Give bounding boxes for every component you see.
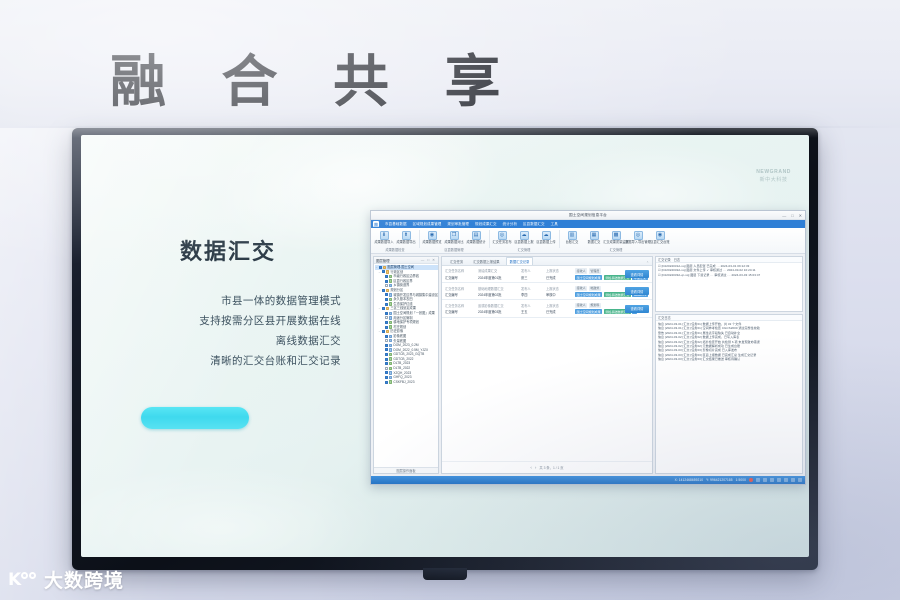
ribbon-group-name: 汇交管理: [518, 247, 531, 253]
field-label: 汇交任务名称: [445, 268, 475, 273]
upload-icon: ☁: [520, 231, 529, 240]
table-cell: 汇交任务名称汇交编号: [445, 286, 475, 298]
expand-toggle-icon[interactable]: −: [378, 306, 381, 311]
slide-corner-logo: NEWGRAND 新中大科技: [756, 169, 791, 183]
io-manage-icon: ◎: [634, 231, 643, 240]
layer-visibility-checkbox[interactable]: [385, 339, 388, 342]
layer-icon: [389, 348, 392, 351]
task-code: 2024年度第03批: [478, 309, 518, 314]
export-icon: ⬆: [402, 231, 411, 240]
table-cell: 基础地理数据汇交2024年度第02批: [478, 286, 518, 298]
publisher-value: 张三: [521, 275, 543, 280]
layer-visibility-checkbox[interactable]: [385, 353, 388, 356]
ribbon-button-compare[interactable]: ❐ 成果数据对比: [443, 228, 465, 245]
layer-icon: [389, 376, 392, 379]
view-detail-button[interactable]: 查看详情: [625, 287, 649, 295]
layer-visibility-checkbox[interactable]: [385, 348, 388, 351]
content-tabs: 汇交任务 汇交数据上报结果 数据汇交记录 ⌃: [442, 257, 652, 266]
wall-headline: 融 合 共 享: [110, 50, 519, 114]
layer-visibility-checkbox[interactable]: [382, 289, 385, 292]
table-cell: 上报状态已完成: [546, 268, 572, 280]
ribbon-group-0: ⬇ 成果数据导入 ⬆ 成果数据导出 成果数据检查: [371, 228, 419, 253]
ribbon-label: 成果数据统计: [466, 241, 485, 245]
publisher-value: 王五: [521, 309, 543, 314]
layer-icon: [389, 293, 392, 296]
ribbon-label: 区县数据上报: [514, 241, 533, 245]
ribbon-label: 数据汇交: [588, 241, 601, 245]
submission-detail-log: 汇交日志 信息 [2024-03-01] 汇交 [任务01] 数据上传开始，共 …: [655, 314, 803, 474]
window-title: 国土空间规划信息平台: [569, 213, 607, 218]
layer-icon: [389, 275, 392, 278]
ribbon-label: 成果数据导出: [396, 241, 415, 245]
layer-icon: [389, 316, 392, 319]
info-icon[interactable]: [791, 478, 795, 482]
expand-toggle-icon[interactable]: −: [378, 288, 381, 293]
publish-icon: ◎: [498, 231, 507, 240]
ribbon-button-preview[interactable]: ◉ 成果数据预览: [421, 228, 443, 245]
county-ledger-icon: ◉: [656, 231, 665, 240]
window-controls: — □ ✕: [782, 213, 802, 218]
table-row[interactable]: 汇交任务名称汇交编号遥感影像数据汇交2024年度第03批发布人王五上报状态已完成…: [442, 300, 652, 317]
tag-row: 接收人地政处: [575, 286, 622, 291]
layer-icon: [389, 357, 392, 360]
ribbon-label: 成果数据预览: [422, 241, 441, 245]
ribbon-label: 成果数据导入: [374, 241, 393, 245]
slide-logo-line2: 新中大科技: [756, 176, 791, 183]
tab-submission-task[interactable]: 汇交任务: [446, 257, 467, 265]
layer-icon: [389, 335, 392, 338]
layer-visibility-checkbox[interactable]: [385, 335, 388, 338]
app-logo-icon: 国: [373, 221, 379, 227]
preview-icon: ◉: [428, 231, 437, 240]
layer-visibility-checkbox[interactable]: [385, 316, 388, 319]
publisher-value: 李四: [521, 292, 543, 297]
layer-icon: [389, 279, 392, 282]
layer-visibility-checkbox[interactable]: [385, 367, 388, 370]
folder-icon: [386, 289, 389, 292]
tag-group: 接收人地政处国土空间规划成果测绘基础数据汇交season-1: [575, 286, 622, 298]
expand-toggle-icon[interactable]: −: [378, 329, 381, 334]
slide-bullet-3: 清晰的汇交台账和汇交记录: [115, 351, 341, 371]
menu-item-5[interactable]: 区县数据汇交: [523, 222, 545, 227]
log-column: 汇交记录 日志 ☑ [DJ2024031A-xq] 图层 人员配置 已完成 ··…: [655, 256, 803, 474]
status-label: 上报状态: [546, 268, 572, 273]
tree-panel-footer: 图层操作面板: [374, 467, 438, 473]
layer-visibility-checkbox[interactable]: [385, 358, 388, 361]
table-cell: 发布人张三: [521, 268, 543, 280]
menu-item-1[interactable]: 区域规划成果管理: [413, 222, 442, 227]
layer-icon: [389, 298, 392, 301]
view-detail-button[interactable]: 查看详情: [625, 270, 649, 278]
status-value: 审核中: [546, 292, 572, 297]
layer-visibility-checkbox[interactable]: [385, 362, 388, 365]
folder-icon: [386, 330, 389, 333]
status-badge: 国土空间规划成果: [575, 275, 602, 280]
layer-visibility-checkbox[interactable]: [385, 371, 388, 374]
table-cell: 发布人王五: [521, 303, 543, 315]
watermark-logo-icon: K: [8, 570, 38, 592]
publisher-label: 发布人: [521, 268, 543, 273]
receiver-value: 地政处: [589, 286, 601, 291]
ribbon-button-ledger[interactable]: ▥ 台账汇交: [561, 228, 583, 245]
status-bar: X: 1412468659210 Y: 996421207185 1:5000: [371, 476, 805, 484]
table-row[interactable]: 汇交任务名称汇交编号基础地理数据汇交2024年度第02批发布人李四上报状态审核中…: [442, 283, 652, 300]
tag-row: 接收人规划科: [575, 303, 622, 308]
ribbon-label: 数据导入导出管理: [625, 241, 651, 245]
ribbon-group-2: ◎ 汇交任务发布 ☁ 区县数据上报 ☁ 区县数据上传: [489, 228, 559, 253]
ribbon-group-3: ▥ 台账汇交 ▦ 数据汇交 ▩ 汇交成果质量监督: [559, 228, 673, 253]
log-bottom-body[interactable]: 信息 [2024-03-01] 汇交 [任务01] 数据上传开始，共 32 个文…: [656, 321, 802, 473]
zoom-out-icon[interactable]: [763, 478, 767, 482]
layer-visibility-checkbox[interactable]: [385, 293, 388, 296]
status-coord-x: X: 1412468659210: [675, 478, 704, 482]
layer-icon: [389, 321, 392, 324]
ribbon-label: 台账汇交: [566, 241, 579, 245]
ribbon-button-io-manage[interactable]: ◎ 数据导入导出管理: [627, 228, 649, 245]
log-line: ☑ [DJ2024033A-qr-xq] 图层 下载记录 ··· 审核通过 ··…: [658, 273, 800, 277]
table-cell: 上报状态审核中: [546, 286, 572, 298]
pan-icon[interactable]: [770, 478, 774, 482]
tag-row: 国土空间规划成果测绘基础数据汇交年度汇交: [575, 275, 622, 280]
folder-icon: [386, 270, 389, 273]
slide-title: 数据汇交: [115, 239, 341, 265]
layer-visibility-checkbox[interactable]: [385, 381, 388, 384]
chevron-right-icon[interactable]: ›: [535, 465, 537, 470]
tree-panel-header: 图层管理 — □ ✕: [374, 257, 438, 264]
layer-icon: [389, 362, 392, 365]
ribbon-group-name: 区县数据管理: [444, 247, 463, 253]
slide-logo-line1: NEWGRAND: [756, 169, 791, 175]
layer-icon: [389, 380, 392, 383]
ribbon-group-name: 汇交管理: [610, 247, 623, 253]
task-code: 2024年度第01批: [478, 275, 518, 280]
layer-tree-node[interactable]: CSKFBJ_2023: [375, 380, 438, 385]
compare-icon: ❐: [450, 231, 459, 240]
ribbon-button-data-submit[interactable]: ▦ 数据汇交: [583, 228, 605, 245]
watermark-circle-left: [21, 572, 28, 579]
application-window: 国土空间规划信息平台 — □ ✕ 国 市县基础数据 区域规划成果管理 规划审批管…: [370, 210, 806, 485]
layer-icon: [389, 353, 392, 356]
ribbon-button-upload[interactable]: ☁ 区县数据上报: [513, 228, 535, 245]
table-cell: 汇交任务名称汇交编号: [445, 268, 475, 280]
menu-item-2[interactable]: 规划审批管理: [447, 222, 469, 227]
publisher-label: 发布人: [521, 286, 543, 291]
pagination-text: 共 3 条，1 / 1 页: [539, 465, 563, 470]
ribbon-button-export[interactable]: ⬆ 成果数据导出: [395, 228, 417, 245]
table-row[interactable]: 汇交任务名称汇交编号测绘成果汇交2024年度第01批发布人张三上报状态已完成接收…: [442, 266, 652, 283]
tag-row: 接收人管理员: [575, 268, 622, 273]
status-value: 已完成: [546, 309, 572, 314]
slide-text-block: 数据汇交 市县一体的数据管理模式 支持按需分区县开展数据在线 离线数据汇交 清晰…: [115, 239, 341, 429]
ribbon-group-name: 成果数据检查: [385, 247, 404, 253]
ribbon-button-import[interactable]: ⬇ 成果数据导入: [373, 228, 395, 245]
layer-visibility-checkbox[interactable]: [385, 321, 388, 324]
slide-bullet-2: 离线数据汇交: [115, 331, 341, 351]
layer-visibility-checkbox[interactable]: [385, 376, 388, 379]
ribbon-button-quality[interactable]: ▩ 汇交成果质量监督: [605, 228, 627, 245]
pagination: ‹ › 共 3 条，1 / 1 页: [442, 461, 652, 473]
layer-visibility-checkbox[interactable]: [385, 280, 388, 283]
tag-group: 接收人管理员国土空间规划成果测绘基础数据汇交年度汇交: [575, 268, 622, 280]
layer-visibility-checkbox[interactable]: [385, 303, 388, 306]
layer-visibility-checkbox[interactable]: [379, 266, 382, 269]
layer-visibility-checkbox[interactable]: [385, 298, 388, 301]
table-cell: 测绘成果汇交2024年度第01批: [478, 268, 518, 280]
ribbon-button-cloud-upload[interactable]: ☁ 区县数据上传: [535, 228, 557, 245]
ribbon-group-1: ◉ 成果数据预览 ❐ 成果数据对比 ▤ 成果数据统计: [419, 228, 489, 253]
ribbon-label: 区县汇交台账: [650, 241, 669, 245]
layer-visibility-checkbox[interactable]: [385, 275, 388, 278]
status-badge: 国土空间规划成果: [575, 292, 602, 297]
layer-visibility-checkbox[interactable]: [385, 344, 388, 347]
stats-icon: ▤: [472, 231, 481, 240]
ribbon-label: 成果数据对比: [444, 241, 463, 245]
task-name: 测绘成果汇交: [478, 268, 518, 273]
task-code: 2024年度第02批: [478, 292, 518, 297]
folder-icon: [383, 266, 386, 269]
cloud-up-icon: ☁: [542, 231, 551, 240]
slide-cta-button[interactable]: [141, 407, 249, 429]
status-label: 上报状态: [546, 303, 572, 308]
layer-tree-panel: 图层管理 — □ ✕ −图层管理-国土空间−行政区划市级行政区边界线区县行政区界…: [373, 256, 439, 474]
ledger-icon: ▥: [568, 231, 577, 240]
log-top-subtitle: 日志: [674, 257, 680, 262]
photo-watermark: K 大数跨境: [8, 570, 124, 592]
layer-visibility-checkbox[interactable]: [385, 312, 388, 315]
table-cell: 发布人李四: [521, 286, 543, 298]
close-icon[interactable]: ✕: [799, 213, 802, 218]
ribbon-toolbar: ⬇ 成果数据导入 ⬆ 成果数据导出 成果数据检查: [371, 228, 805, 254]
status-label: 上报状态: [546, 286, 572, 291]
layer-visibility-checkbox[interactable]: [382, 330, 385, 333]
view-detail-button[interactable]: 查看详情: [625, 305, 649, 313]
layer-icon: [389, 312, 392, 315]
tag-group: 接收人规划科国土空间规划成果测绘基础数据汇交1: [575, 303, 622, 315]
menu-item-0[interactable]: 市县基础数据: [385, 222, 407, 227]
table-cell: 汇交任务名称汇交编号: [445, 303, 475, 315]
chevron-left-icon[interactable]: ‹: [530, 465, 532, 470]
ribbon-button-county-ledger[interactable]: ◉ 区县汇交台账: [649, 228, 671, 245]
display-tv: NEWGRAND 新中大科技 数据汇交 市县一体的数据管理模式 支持按需分区县开…: [72, 128, 818, 570]
menu-item-3[interactable]: 规划成果汇交: [475, 222, 497, 227]
layer-visibility-checkbox[interactable]: [385, 326, 388, 329]
layer-visibility-checkbox[interactable]: [385, 284, 388, 287]
folder-icon: [386, 307, 389, 310]
field-label: 汇交任务名称: [445, 286, 475, 291]
ribbon-button-publish[interactable]: ◎ 汇交任务发布: [491, 228, 513, 245]
layer-icon: [389, 339, 392, 342]
receiver-label: 接收人: [575, 303, 587, 308]
layer-tree-label: CSKFBJ_2023: [393, 380, 414, 385]
log-top-body[interactable]: ☑ [DJ2024031A-xq] 图层 人员配置 已完成 ··· 2024-0…: [656, 263, 802, 311]
layer-icon: [389, 284, 392, 287]
layer-icon: [389, 367, 392, 370]
slide-bullet-1: 支持按需分区县开展数据在线: [115, 311, 341, 331]
ribbon-label: 汇交任务发布: [492, 241, 511, 245]
menu-bar: 国 市县基础数据 区域规划成果管理 规划审批管理 规划成果汇交 统计分析 区县数…: [371, 220, 805, 228]
layer-tree[interactable]: −图层管理-国土空间−行政区划市级行政区边界线区县行政区界乡镇街道界−规划分区城…: [374, 264, 438, 467]
data-submit-icon: ▦: [590, 231, 599, 240]
status-value: 已完成: [546, 275, 572, 280]
ribbon-label: 区县数据上传: [536, 241, 555, 245]
measure-icon[interactable]: [777, 478, 781, 482]
status-coord-y: Y: 996421207185: [706, 478, 733, 482]
submission-records-log: 汇交记录 日志 ☑ [DJ2024031A-xq] 图层 人员配置 已完成 ··…: [655, 256, 803, 312]
slide-bullet-0: 市县一体的数据管理模式: [115, 291, 341, 311]
watermark-circle-right: [29, 572, 36, 579]
tab-submission-records[interactable]: 数据汇交记录: [506, 257, 534, 265]
tab-upload-result[interactable]: 汇交数据上报结果: [469, 257, 503, 265]
app-body: 图层管理 — □ ✕ −图层管理-国土空间−行政区划市级行政区边界线区县行政区界…: [371, 254, 805, 476]
status-scale: 1:5000: [736, 478, 746, 482]
layer-icon[interactable]: [784, 478, 788, 482]
log-bottom-title: 汇交日志: [658, 315, 671, 320]
record-icon[interactable]: [749, 478, 753, 482]
layer-icon: [389, 344, 392, 347]
print-icon[interactable]: [798, 478, 802, 482]
field-label: 汇交任务名称: [445, 303, 475, 308]
screen-glare-bottom-left: [81, 464, 387, 557]
quality-icon: ▩: [612, 231, 621, 240]
window-titlebar: 国土空间规划信息平台 — □ ✕: [371, 211, 805, 220]
expand-toggle-icon[interactable]: −: [378, 270, 381, 275]
menu-item-4[interactable]: 统计分析: [503, 222, 517, 227]
field-label: 汇交编号: [445, 275, 475, 280]
tag-row: 国土空间规划成果测绘基础数据汇交season-1: [575, 292, 622, 297]
publisher-label: 发布人: [521, 303, 543, 308]
watermark-logo-letter: K: [8, 572, 21, 589]
task-name: 遥感影像数据汇交: [478, 303, 518, 308]
log-line: 信息 [2024-03-03] 汇交 [任务03] 汇交结果已推送 审核待确认: [658, 357, 800, 361]
exhibition-photo-background: 融 合 共 享 NEWGRAND 新中大科技 数据汇交 市县一体的数据管理模式 …: [0, 0, 900, 600]
content-panel: 汇交任务 汇交数据上报结果 数据汇交记录 ⌃ 汇交任务名称汇交编号测绘成果汇交2…: [441, 256, 653, 474]
tree-panel-title: 图层管理: [376, 258, 390, 263]
minimize-icon[interactable]: —: [782, 213, 786, 218]
menu-item-6[interactable]: 工具: [551, 222, 558, 227]
receiver-value: 规划科: [589, 303, 601, 308]
layer-visibility-checkbox[interactable]: [382, 307, 385, 310]
layer-visibility-checkbox[interactable]: [382, 270, 385, 273]
field-label: 汇交编号: [445, 292, 475, 297]
import-icon: ⬇: [380, 231, 389, 240]
receiver-label: 接收人: [575, 286, 587, 291]
tv-stand: [423, 568, 467, 580]
chevron-up-icon[interactable]: ⌃: [646, 261, 649, 265]
zoom-in-icon[interactable]: [756, 478, 760, 482]
table-cell: 遥感影像数据汇交2024年度第03批: [478, 303, 518, 315]
task-name: 基础地理数据汇交: [478, 286, 518, 291]
layer-icon: [389, 371, 392, 374]
maximize-icon[interactable]: □: [791, 213, 793, 218]
tag-row: 国土空间规划成果测绘基础数据汇交1: [575, 309, 622, 314]
records-table[interactable]: 汇交任务名称汇交编号测绘成果汇交2024年度第01批发布人张三上报状态已完成接收…: [442, 266, 652, 461]
table-cell: 上报状态已完成: [546, 303, 572, 315]
field-label: 汇交编号: [445, 309, 475, 314]
receiver-label: 接收人: [575, 268, 587, 273]
watermark-brand: 大数跨境: [44, 570, 124, 592]
ribbon-button-stats[interactable]: ▤ 成果数据统计: [465, 228, 487, 245]
tv-screen: NEWGRAND 新中大科技 数据汇交 市县一体的数据管理模式 支持按需分区县开…: [81, 135, 809, 557]
log-top-title: 汇交记录: [658, 257, 671, 262]
tree-panel-controls[interactable]: — □ ✕: [421, 258, 436, 262]
status-badge: 国土空间规划成果: [575, 309, 602, 314]
receiver-value: 管理员: [589, 268, 601, 273]
